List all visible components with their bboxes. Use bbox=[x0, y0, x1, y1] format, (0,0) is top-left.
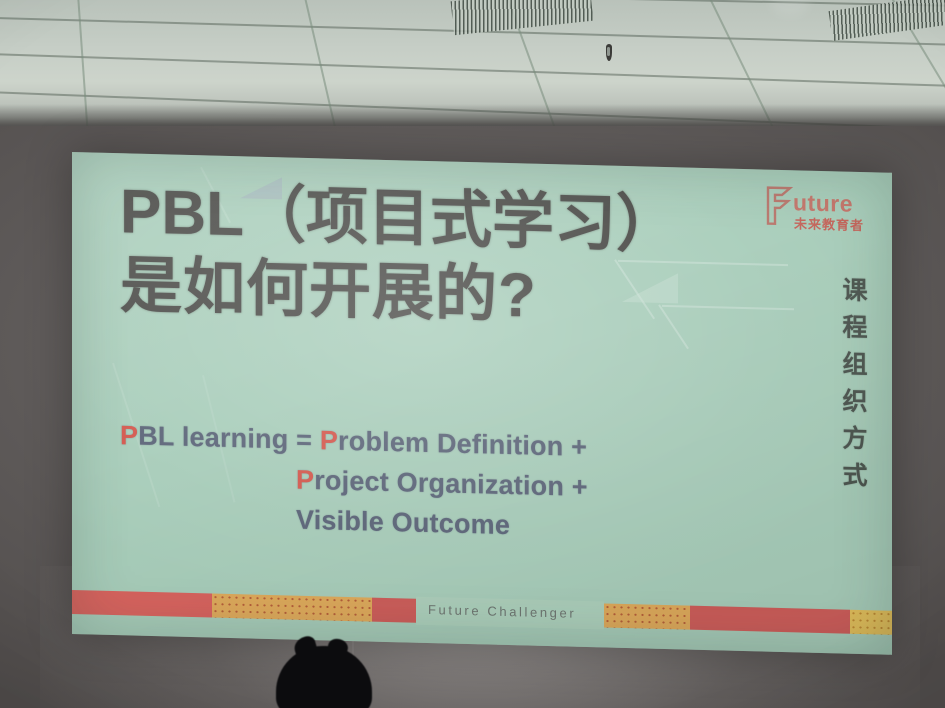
future-logo: uture 未来教育者 bbox=[764, 184, 874, 243]
footer-band-yellow-dotted bbox=[850, 610, 892, 635]
formula-highlight-p: P bbox=[296, 465, 314, 495]
formula-highlight-p: P bbox=[320, 425, 338, 455]
projected-slide: uture 未来教育者 PBL（项目式学习） 是如何开展的? PBL learn… bbox=[72, 152, 892, 655]
formula-text: roblem Definition + bbox=[338, 426, 587, 462]
slide-formula-block: PBL learning = Problem Definition + Proj… bbox=[120, 415, 588, 547]
logo-wordmark: uture bbox=[793, 191, 853, 216]
ceiling-grid-line bbox=[0, 52, 945, 88]
ceiling-air-vent bbox=[829, 0, 945, 41]
slide-title-line-2: 是如何开展的? bbox=[120, 249, 678, 337]
formula-text: BL learning = bbox=[138, 421, 320, 456]
formula-text: roject Organization + bbox=[314, 465, 588, 502]
footer-band-orange-dotted bbox=[212, 594, 372, 622]
footer-band-red bbox=[690, 606, 850, 634]
formula-text: Visible Outcome bbox=[296, 505, 510, 540]
footer-band-red bbox=[72, 590, 212, 618]
slide-title: PBL（项目式学习） 是如何开展的? bbox=[120, 175, 678, 337]
slide-surface: uture 未来教育者 PBL（项目式学习） 是如何开展的? PBL learn… bbox=[72, 152, 892, 655]
formula-highlight-p: P bbox=[120, 420, 138, 450]
logo-subtitle: 未来教育者 bbox=[794, 217, 864, 232]
footer-band-orange-dotted bbox=[604, 603, 690, 629]
future-f-mark-icon bbox=[764, 186, 794, 227]
slide-vertical-label: 课程组织方式 bbox=[840, 276, 865, 499]
slide-title-line-1: PBL（项目式学习） bbox=[120, 175, 678, 263]
slide-footer-band: Future Challenger bbox=[72, 590, 892, 635]
ceiling-fixture-glare bbox=[770, 0, 810, 16]
footer-band-red bbox=[372, 598, 416, 623]
ceiling-air-vent bbox=[451, 0, 594, 35]
photo-scene: uture 未来教育者 PBL（项目式学习） 是如何开展的? PBL learn… bbox=[0, 0, 945, 708]
sprinkler-head bbox=[606, 44, 612, 61]
